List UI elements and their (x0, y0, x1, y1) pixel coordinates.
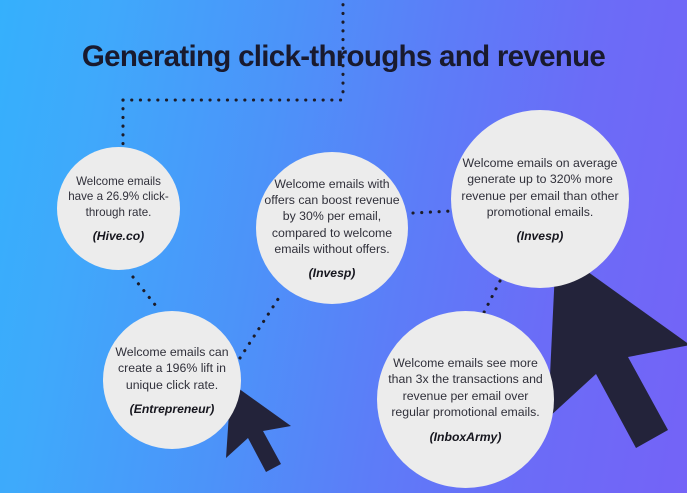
fact-source: (Invesp) (517, 229, 564, 243)
fact-bubble-5: Welcome emails see more than 3x the tran… (377, 311, 554, 488)
connector-bubble1-to-bubble4 (133, 277, 160, 311)
connector-bubble2-to-bubble3 (413, 211, 452, 213)
fact-source: (Invesp) (309, 266, 356, 280)
page-title: Generating click-throughs and revenue (0, 41, 687, 73)
fact-text: Welcome emails see more than 3x the tran… (377, 355, 554, 420)
fact-text: Welcome emails on average generate up to… (451, 155, 629, 220)
fact-bubble-1: Welcome emails have a 26.9% click-throug… (57, 147, 180, 270)
fact-source: (InboxArmy) (430, 430, 502, 444)
fact-source: (Entrepreneur) (130, 402, 215, 416)
fact-bubble-3: Welcome emails on average generate up to… (451, 110, 629, 288)
fact-text: Welcome emails have a 26.9% click-throug… (57, 174, 180, 220)
fact-bubble-4: Welcome emails can create a 196% lift in… (103, 311, 241, 449)
fact-source: (Hive.co) (93, 229, 144, 243)
fact-bubble-2: Welcome emails with offers can boost rev… (256, 152, 408, 304)
connector-bubble4-to-bubble2 (240, 296, 280, 358)
fact-text: Welcome emails with offers can boost rev… (256, 176, 408, 257)
infographic-canvas: Generating click-throughs and revenue We… (0, 0, 687, 493)
fact-text: Welcome emails can create a 196% lift in… (103, 344, 241, 393)
